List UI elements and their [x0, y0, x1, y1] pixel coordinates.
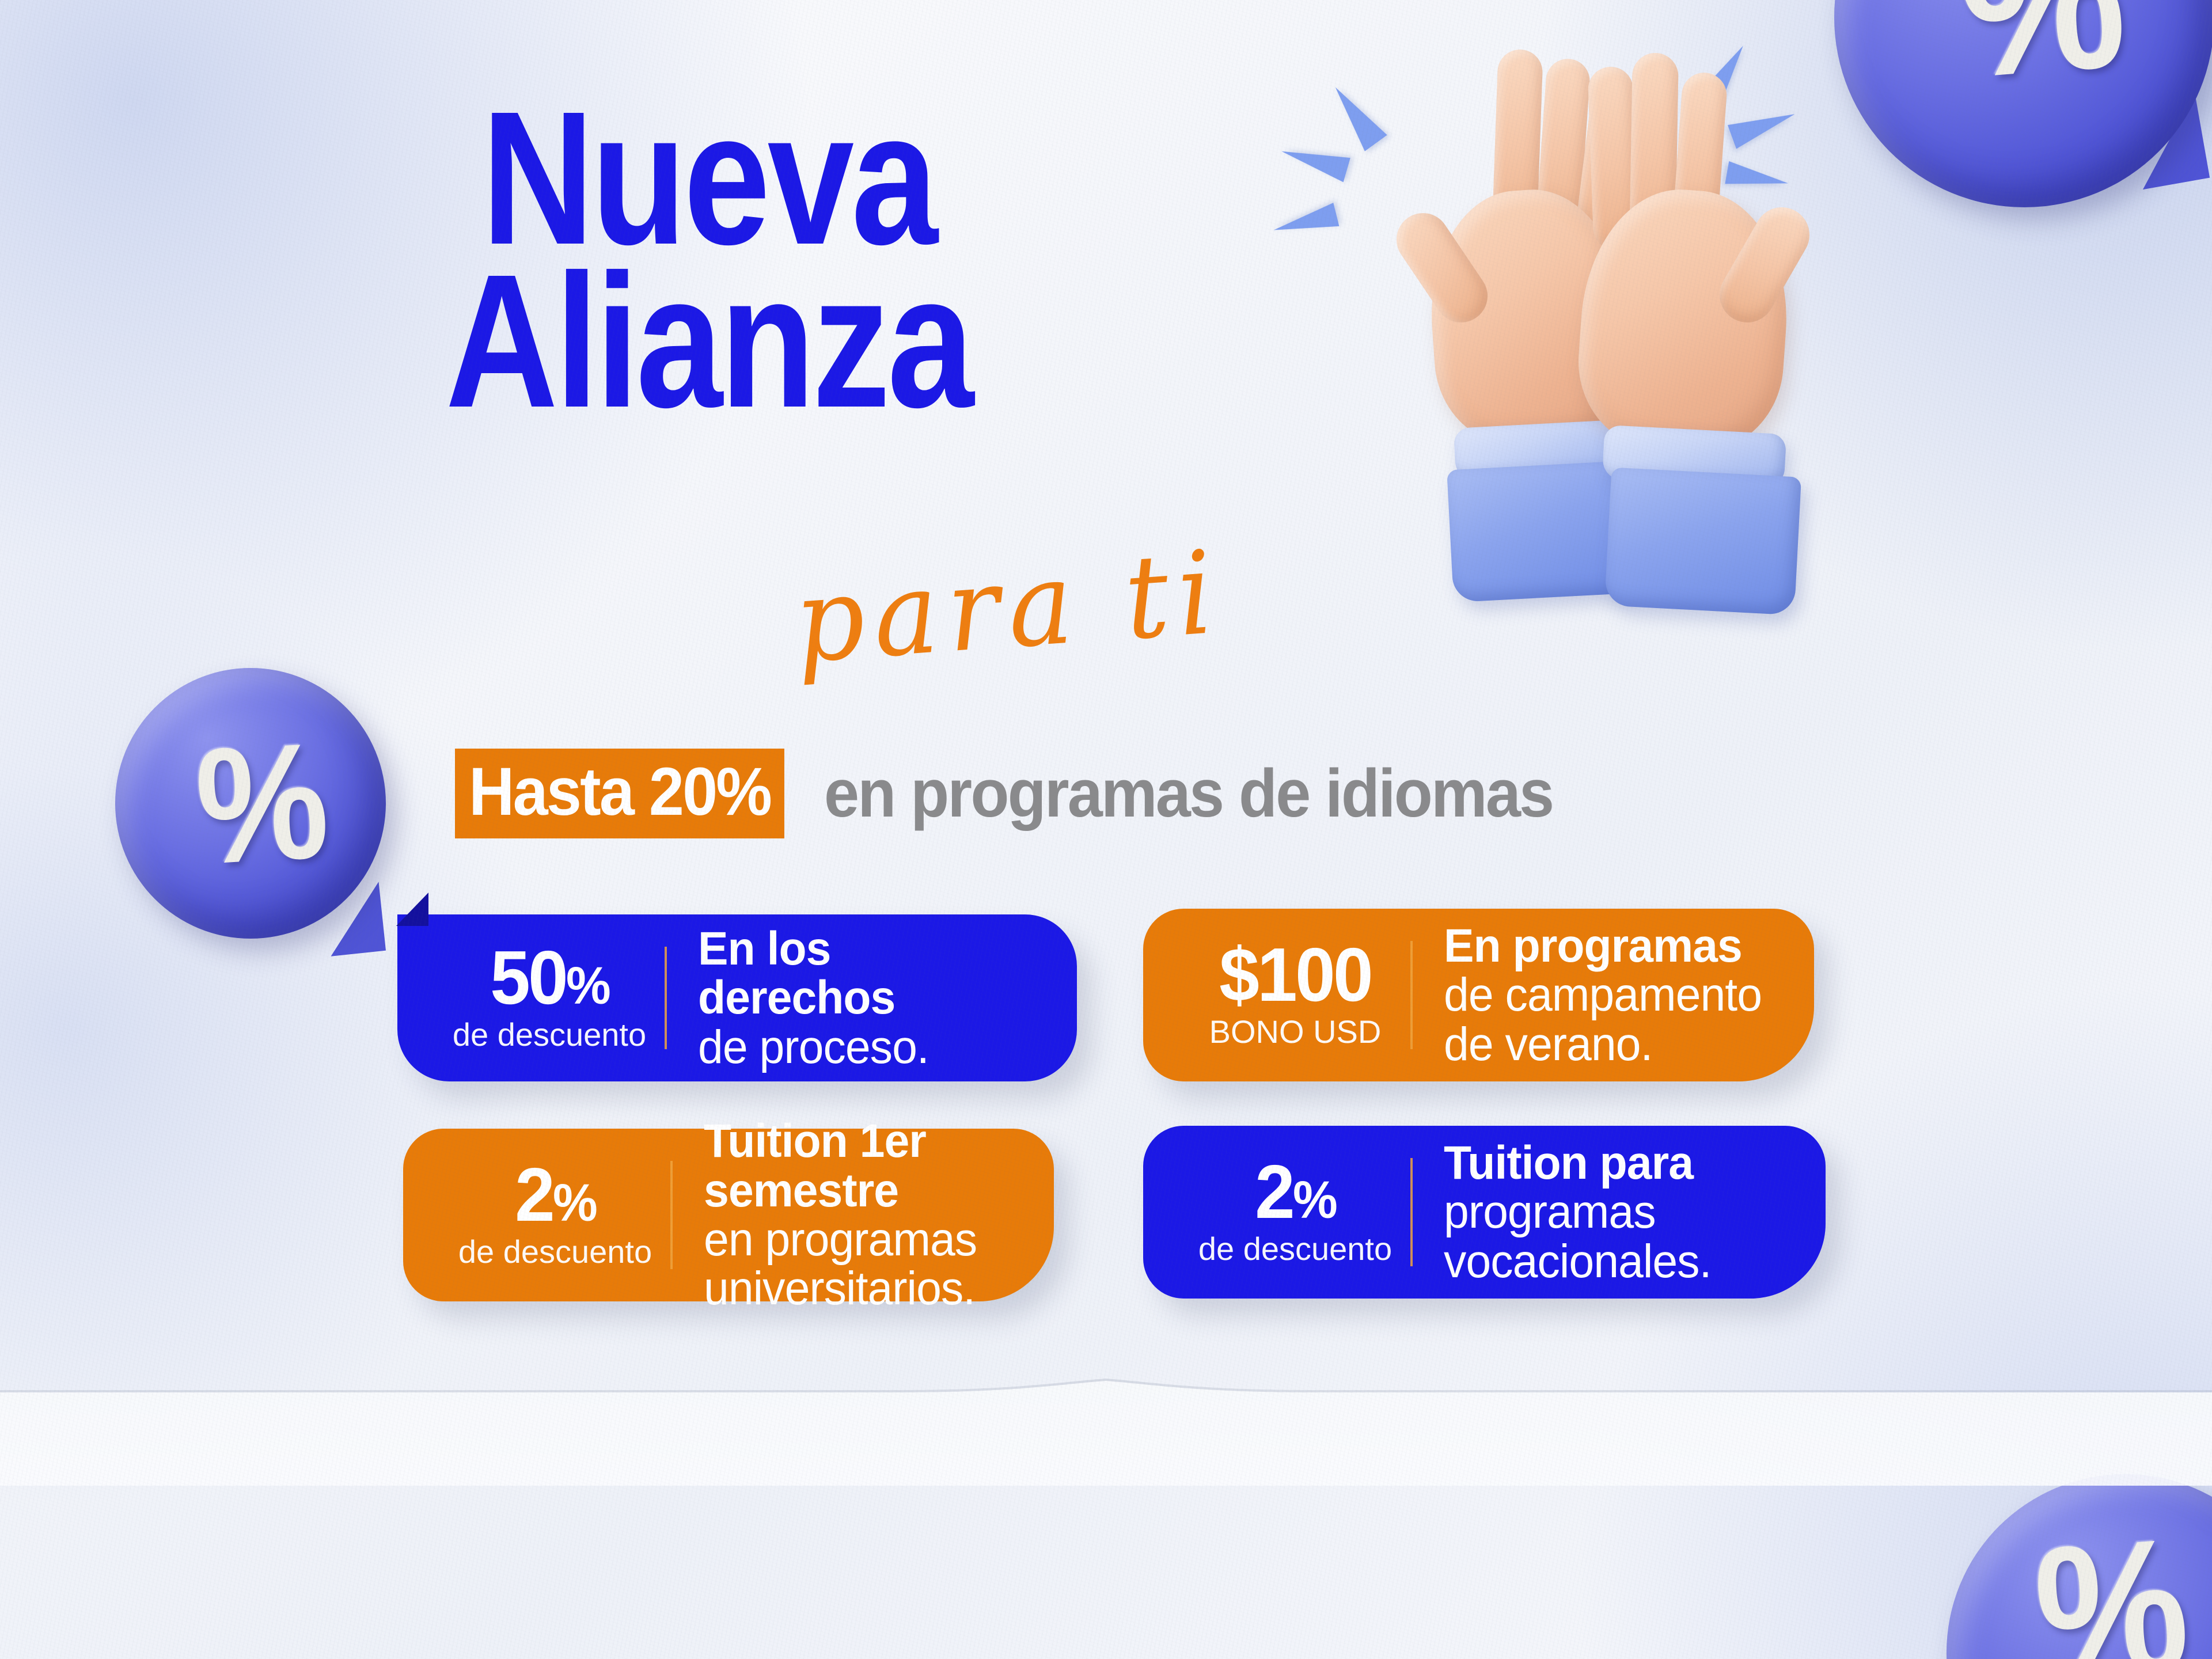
card-divider — [1410, 941, 1413, 1049]
card-line-light-2: de verano. — [1444, 1020, 1762, 1069]
card-amount: $100 — [1186, 940, 1405, 1009]
percent-icon: % — [192, 717, 332, 890]
card-line-light: de campamento — [1444, 970, 1762, 1019]
promo-poster: Nueva Alianza para ti — [0, 0, 2212, 1659]
card-line-bold: Tuition para — [1444, 1138, 1712, 1187]
headline-block: Nueva Alianza — [0, 98, 1417, 420]
card-amount-note: de descuento — [440, 1233, 670, 1270]
card-amount-note: BONO USD — [1180, 1013, 1410, 1050]
card-divider — [1410, 1158, 1413, 1266]
card-amount-note: de descuento — [1180, 1230, 1410, 1267]
card-amount-note: de descuento — [434, 1016, 665, 1053]
percent-icon: % — [1952, 0, 2131, 110]
benefit-card[interactable]: 50% de descuento En los derechos de proc… — [397, 914, 1077, 1081]
spark-icon — [1725, 161, 1790, 195]
card-line-light: en programas — [704, 1215, 1007, 1264]
card-amount-block: 2% de descuento — [1180, 1157, 1410, 1267]
subhead-text: en programas de idiomas — [824, 760, 1553, 827]
card-amount-block: 2% de descuento — [440, 1160, 670, 1270]
percent-bubble-top-right: % — [1834, 0, 2212, 207]
card-amount-block: 50% de descuento — [434, 943, 665, 1053]
card-text-block: En programas de campamento de verano. — [1444, 921, 1775, 1069]
card-amount: 2% — [446, 1160, 665, 1229]
card-divider — [665, 947, 667, 1049]
headline-script-para-ti: para ti — [791, 526, 1226, 689]
benefit-card[interactable]: 2% de descuento Tuition 1er semestre en … — [403, 1129, 1054, 1301]
card-line-light: de proceso. — [698, 1023, 1029, 1072]
benefit-card[interactable]: $100 BONO USD En programas de campamento… — [1143, 909, 1814, 1081]
benefit-card[interactable]: 2% de descuento Tuition para programas v… — [1143, 1126, 1826, 1299]
percent-bubble-left: % — [115, 668, 386, 939]
headline-line-2: Alianza — [127, 261, 1289, 420]
card-text-block: Tuition para programas vocacionales. — [1444, 1138, 1722, 1286]
right-sleeve — [1604, 468, 1801, 616]
card-line-light-2: universitarios. — [704, 1264, 1007, 1313]
spark-icon — [1728, 102, 1799, 149]
subhead-row: Hasta 20% en programas de idiomas — [455, 749, 1608, 838]
card-line-light-2: vocacionales. — [1444, 1237, 1712, 1286]
headline-line-1: Nueva — [127, 98, 1289, 257]
card-line-bold: En los derechos — [698, 924, 1029, 1023]
card-line-bold: En programas — [1444, 921, 1762, 970]
card-line-light: programas — [1444, 1187, 1712, 1236]
card-amount: 2% — [1186, 1157, 1405, 1227]
clapping-hands-illustration — [1371, 17, 1797, 645]
footer-logos: UNIVERSIDAD DE SANTANDER Universidad de … — [0, 1463, 2212, 1641]
card-text-block: En los derechos de proceso. — [698, 924, 1042, 1072]
subhead-badge: Hasta 20% — [455, 749, 784, 838]
card-line-bold: Tuition 1er semestre — [704, 1117, 1007, 1215]
card-amount-block: $100 BONO USD — [1180, 940, 1410, 1050]
card-divider — [670, 1161, 673, 1269]
card-text-block: Tuition 1er semestre en programas univer… — [704, 1117, 1019, 1313]
card-amount: 50% — [440, 943, 659, 1012]
